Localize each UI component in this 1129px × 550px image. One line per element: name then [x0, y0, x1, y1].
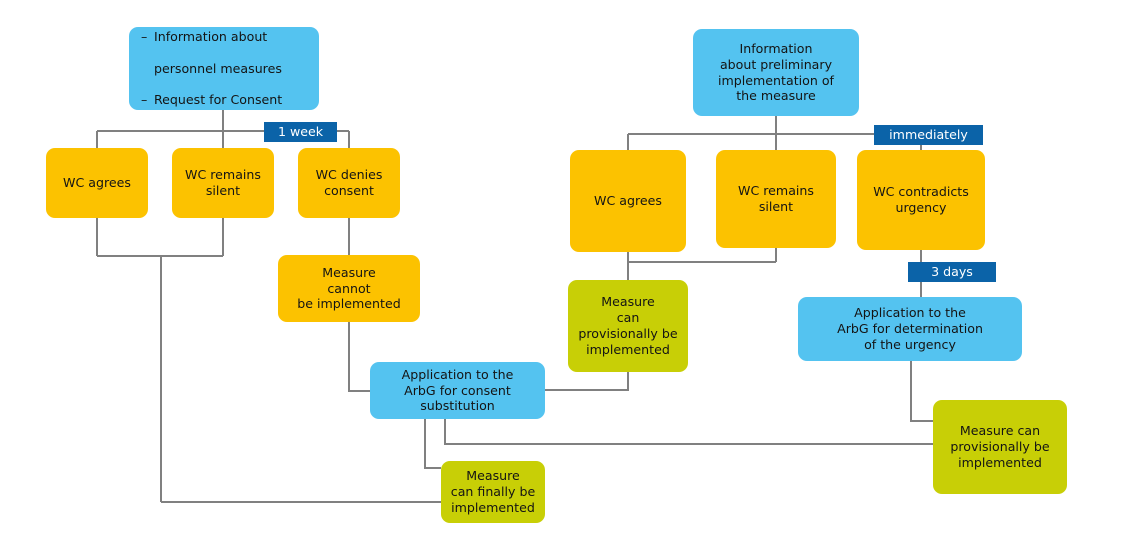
left-root-line-3: Request for Consent: [141, 92, 313, 108]
edge-left-cannot-to-application: [349, 322, 370, 391]
node-left-root[interactable]: Information about personnel measures Req…: [129, 27, 319, 110]
badge-one-week-label: 1 week: [278, 126, 323, 139]
left-root-line-1: Information about: [141, 29, 313, 45]
node-left-wc-agrees[interactable]: WC agrees: [46, 148, 148, 218]
flowchart-canvas: Information about personnel measures Req…: [0, 0, 1129, 550]
badge-three-days-label: 3 days: [931, 266, 973, 279]
node-right-root[interactable]: Information about preliminary implementa…: [693, 29, 859, 116]
left-root-line-2: personnel measures: [141, 61, 313, 77]
node-right-application-arbg-determination-urgency[interactable]: Application to the ArbG for determinatio…: [798, 297, 1022, 361]
badge-one-week: 1 week: [264, 122, 337, 142]
edge-left-application-to-right-prov: [445, 419, 933, 444]
badge-three-days: 3 days: [908, 262, 996, 282]
edge-left-application-to-mid-prov: [545, 372, 628, 390]
node-right-measure-can-provisionally-be-implemented-mid[interactable]: Measure can provisionally be implemented: [568, 280, 688, 372]
edge-left-application-to-final: [425, 419, 441, 468]
node-right-wc-contradicts-urgency[interactable]: WC contradicts urgency: [857, 150, 985, 250]
node-right-wc-agrees[interactable]: WC agrees: [570, 150, 686, 252]
node-right-measure-can-provisionally-be-implemented-end[interactable]: Measure can provisionally be implemented: [933, 400, 1067, 494]
node-left-application-arbg-consent-substitution[interactable]: Application to the ArbG for consent subs…: [370, 362, 545, 419]
node-left-wc-remains-silent[interactable]: WC remains silent: [172, 148, 274, 218]
badge-immediately-label: immediately: [889, 129, 968, 142]
node-right-wc-remains-silent[interactable]: WC remains silent: [716, 150, 836, 248]
edge-right-application-to-prov: [911, 361, 933, 421]
left-root-bullet-list: Information about personnel measures Req…: [141, 13, 313, 124]
badge-immediately: immediately: [874, 125, 983, 145]
node-left-wc-denies-consent[interactable]: WC denies consent: [298, 148, 400, 218]
node-left-measure-can-finally-be-implemented[interactable]: Measure can finally be implemented: [441, 461, 545, 523]
node-left-measure-cannot-be-implemented[interactable]: Measure cannot be implemented: [278, 255, 420, 322]
